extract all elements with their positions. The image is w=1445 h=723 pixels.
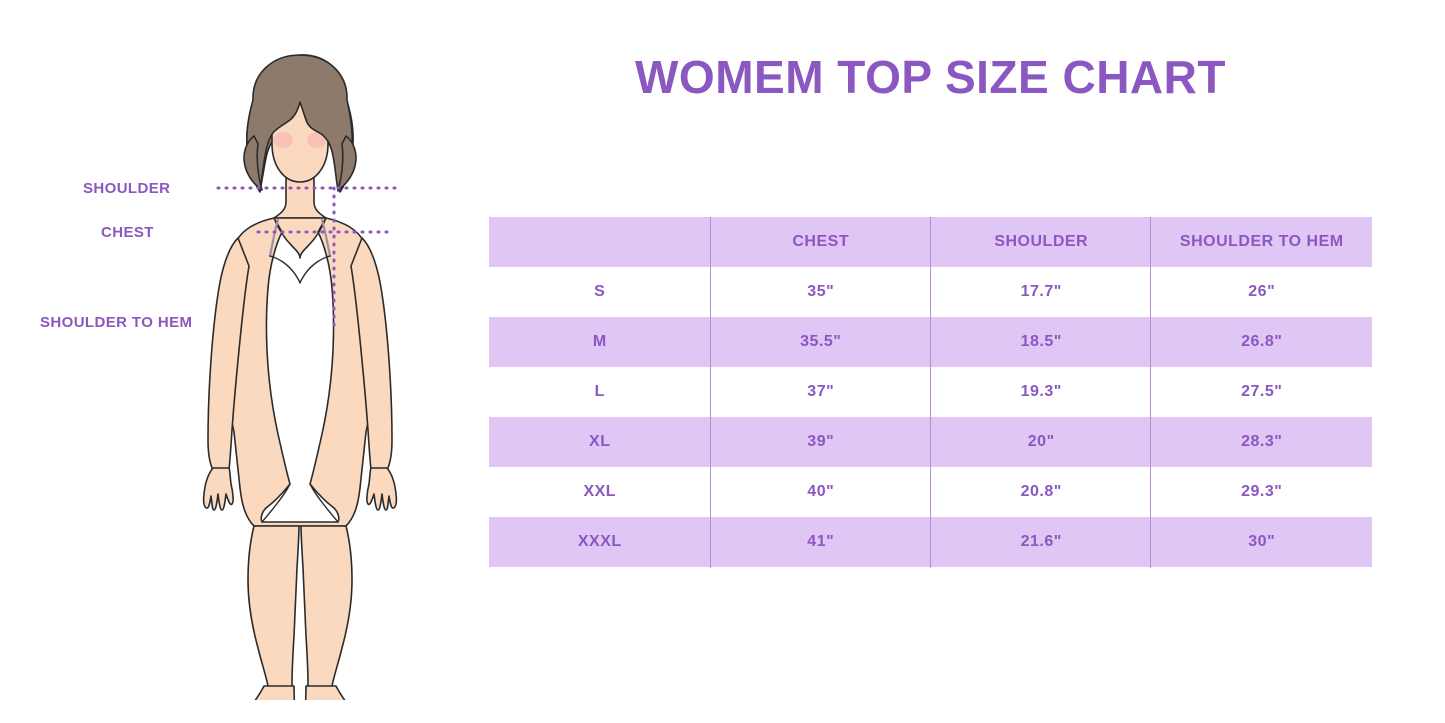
column-divider-1 — [710, 217, 711, 568]
cell-chest: 35.5" — [711, 317, 931, 367]
cell-shoulder: 20" — [931, 417, 1151, 467]
cell-size: M — [489, 317, 711, 367]
cell-chest: 39" — [711, 417, 931, 467]
cell-shoulder: 18.5" — [931, 317, 1151, 367]
cell-shoulder: 19.3" — [931, 367, 1151, 417]
cell-shoulder-to-hem: 30" — [1151, 517, 1372, 567]
label-chest: CHEST — [101, 224, 154, 241]
cell-shoulder: 21.6" — [931, 517, 1151, 567]
female-body-illustration — [150, 40, 450, 700]
blush-left — [273, 132, 293, 148]
cell-chest: 35" — [711, 267, 931, 317]
cell-chest: 37" — [711, 367, 931, 417]
header-chest: CHEST — [711, 217, 931, 267]
column-divider-3 — [1150, 217, 1151, 568]
header-shoulder-to-hem: SHOULDER TO HEM — [1151, 217, 1372, 267]
cell-shoulder-to-hem: 29.3" — [1151, 467, 1372, 517]
cell-size: S — [489, 267, 711, 317]
cell-size: XL — [489, 417, 711, 467]
cell-shoulder-to-hem: 26" — [1151, 267, 1372, 317]
cell-size: XXXL — [489, 517, 711, 567]
hand-left — [204, 468, 233, 510]
cell-shoulder-to-hem: 27.5" — [1151, 367, 1372, 417]
cell-shoulder-to-hem: 26.8" — [1151, 317, 1372, 367]
leg-right — [301, 526, 352, 700]
header-size — [489, 217, 711, 267]
cell-chest: 40" — [711, 467, 931, 517]
leg-left — [248, 526, 299, 700]
foot-right — [306, 686, 352, 700]
cell-shoulder: 20.8" — [931, 467, 1151, 517]
cell-shoulder: 17.7" — [931, 267, 1151, 317]
hand-right — [367, 468, 396, 510]
column-divider-2 — [930, 217, 931, 568]
cell-size: XXL — [489, 467, 711, 517]
cell-chest: 41" — [711, 517, 931, 567]
cell-size: L — [489, 367, 711, 417]
foot-left — [248, 686, 294, 700]
header-shoulder: SHOULDER — [931, 217, 1151, 267]
cell-shoulder-to-hem: 28.3" — [1151, 417, 1372, 467]
page-title: WOMEM TOP SIZE CHART — [489, 50, 1372, 104]
size-chart-page: WOMEM TOP SIZE CHART SHOULDER CHEST SHOU… — [0, 0, 1445, 723]
